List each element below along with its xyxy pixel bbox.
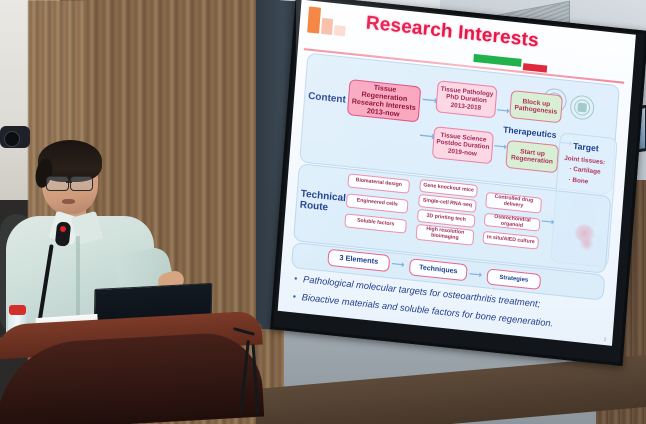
- presenter-glasses-right-lens: [70, 176, 93, 191]
- arrow-right-icon: ⟶: [541, 216, 555, 228]
- conference-room-photo: Research Interests Content Tissue Regene…: [0, 0, 646, 424]
- box-block-up-pathogenesis: Block up Pathogenesis: [509, 90, 563, 123]
- slide-page-number: 2: [603, 337, 606, 343]
- presenter-mouth: [62, 199, 75, 204]
- target-list: Joint tissues: · Cartilage · Bone: [562, 154, 605, 189]
- arrow-right-icon: ⟶: [469, 269, 483, 281]
- presenter-glasses-bridge: [66, 181, 72, 183]
- box-tissue-science: Tissue Science Postdoc Duration 2019-now: [432, 126, 494, 164]
- microphone-led-indicator: [60, 226, 66, 232]
- green-accent-bar: [473, 54, 521, 67]
- presenter-glasses-left-lens: [46, 176, 69, 191]
- box-tissue-regeneration: Tissue Regeneration Research Interests 2…: [347, 79, 421, 122]
- arrow-right-icon: ⟶: [496, 105, 510, 117]
- box-start-up-regeneration: Start up Regeneration: [505, 140, 559, 173]
- slide-decor-bars: [307, 6, 363, 38]
- arrow-right-icon: ⟶: [391, 258, 405, 270]
- camera-lens-icon: [4, 131, 20, 147]
- arrow-right-icon: ⟶: [494, 140, 508, 152]
- presentation-slide: Research Interests Content Tissue Regene…: [278, 0, 636, 346]
- water-bottle-cap: [9, 305, 26, 315]
- box-tissue-pathology: Tissue Pathology PhD Duration 2013-2018: [435, 80, 497, 118]
- projection-screen: Research Interests Content Tissue Regene…: [270, 0, 644, 366]
